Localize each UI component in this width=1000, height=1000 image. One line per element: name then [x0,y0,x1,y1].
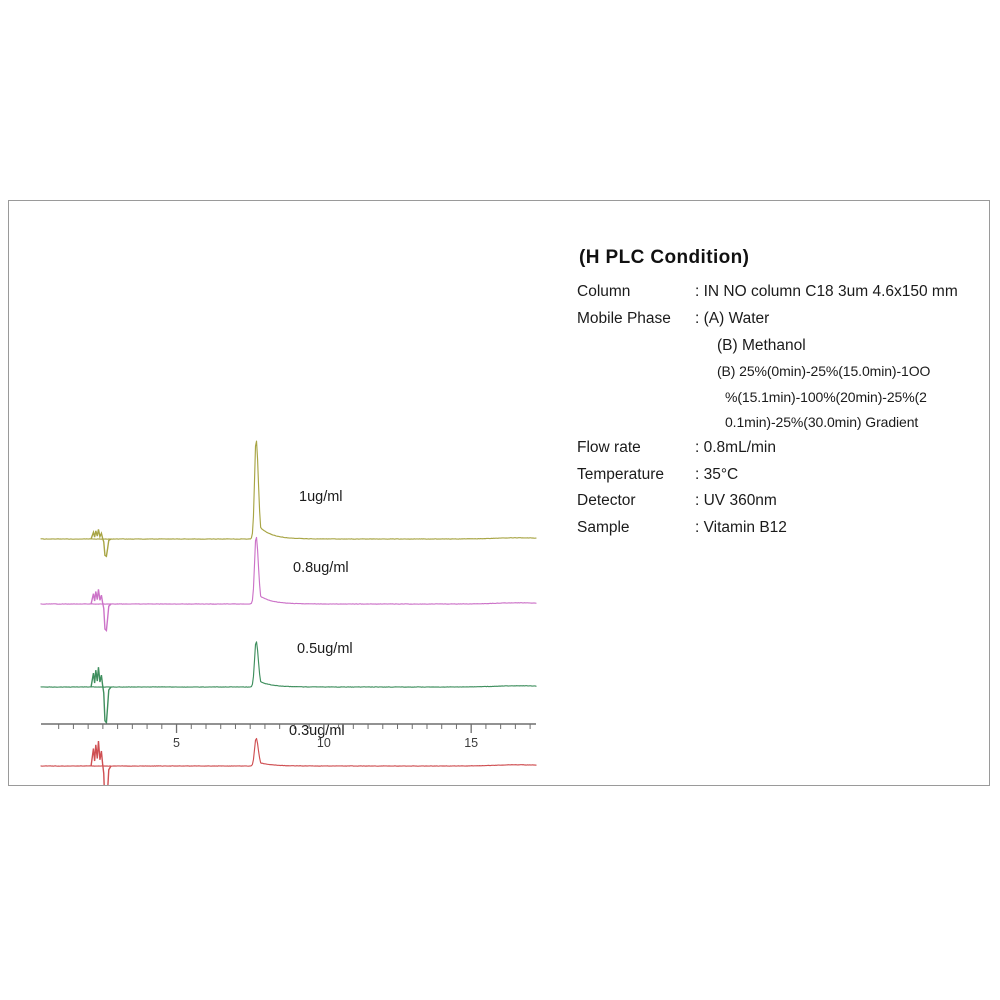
condition-row: %(15.1min)-100%(20min)-25%(2 [577,389,987,405]
condition-row: 0.1min)-25%(30.0min) Gradient [577,414,987,430]
hplc-conditions-panel: (H PLC Condition) Column: IN NO column C… [577,247,987,667]
condition-value: 0.1min)-25%(30.0min) Gradient [695,414,987,430]
injection-disturbance [91,589,111,630]
condition-row: Flow rate: 0.8mL/min [577,439,987,457]
trace-0.8ug-ml [41,537,536,604]
condition-row: Sample: Vitamin B12 [577,519,987,537]
injection-disturbance [91,529,111,556]
series-label-0.8ug-ml: 0.8ug/ml [293,560,349,576]
condition-label: Mobile Phase [577,310,695,328]
condition-label: Column [577,283,695,301]
condition-value: : IN NO column C18 3um 4.6x150 mm [695,283,987,301]
hplc-conditions-title: (H PLC Condition) [579,247,987,269]
injection-disturbance [91,667,111,723]
condition-row: Detector: UV 360nm [577,492,987,510]
condition-value: (B) Methanol [695,337,987,355]
trace-0.5ug-ml [41,642,536,687]
chromatogram-plot: 1ug/ml0.8ug/ml0.5ug/ml0.3ug/ml0.05ug/ml5… [9,201,557,785]
series-label-1ug-ml: 1ug/ml [299,489,343,505]
condition-row: Temperature: 35°C [577,466,987,484]
x-axis-tick-label: 15 [464,736,478,750]
condition-row: (B) Methanol [577,337,987,355]
condition-row: Column: IN NO column C18 3um 4.6x150 mm [577,283,987,301]
condition-row: Mobile Phase: (A) Water [577,310,987,328]
trace-0.3ug-ml [41,738,536,766]
condition-value: (B) 25%(0min)-25%(15.0min)-1OO [695,363,987,379]
chromatogram-svg: 1ug/ml0.8ug/ml0.5ug/ml0.3ug/ml0.05ug/ml5… [9,201,557,785]
injection-disturbance [91,741,111,785]
trace-1ug-ml [41,441,536,539]
hplc-conditions-rows: Column: IN NO column C18 3um 4.6x150 mmM… [577,283,987,537]
figure-frame: 1ug/ml0.8ug/ml0.5ug/ml0.3ug/ml0.05ug/ml5… [8,200,990,786]
x-axis-tick-label: 5 [173,736,180,750]
condition-value: : 0.8mL/min [695,439,987,457]
condition-label: Flow rate [577,439,695,457]
condition-label: Sample [577,519,695,537]
condition-value: : 35°C [695,466,987,484]
series-label-0.5ug-ml: 0.5ug/ml [297,641,353,657]
x-axis-tick-label: 10 [317,736,331,750]
condition-label: Temperature [577,466,695,484]
condition-value: %(15.1min)-100%(20min)-25%(2 [695,389,987,405]
condition-value: : Vitamin B12 [695,519,987,537]
condition-value: : (A) Water [695,310,987,328]
condition-value: : UV 360nm [695,492,987,510]
condition-label: Detector [577,492,695,510]
condition-row: (B) 25%(0min)-25%(15.0min)-1OO [577,363,987,379]
